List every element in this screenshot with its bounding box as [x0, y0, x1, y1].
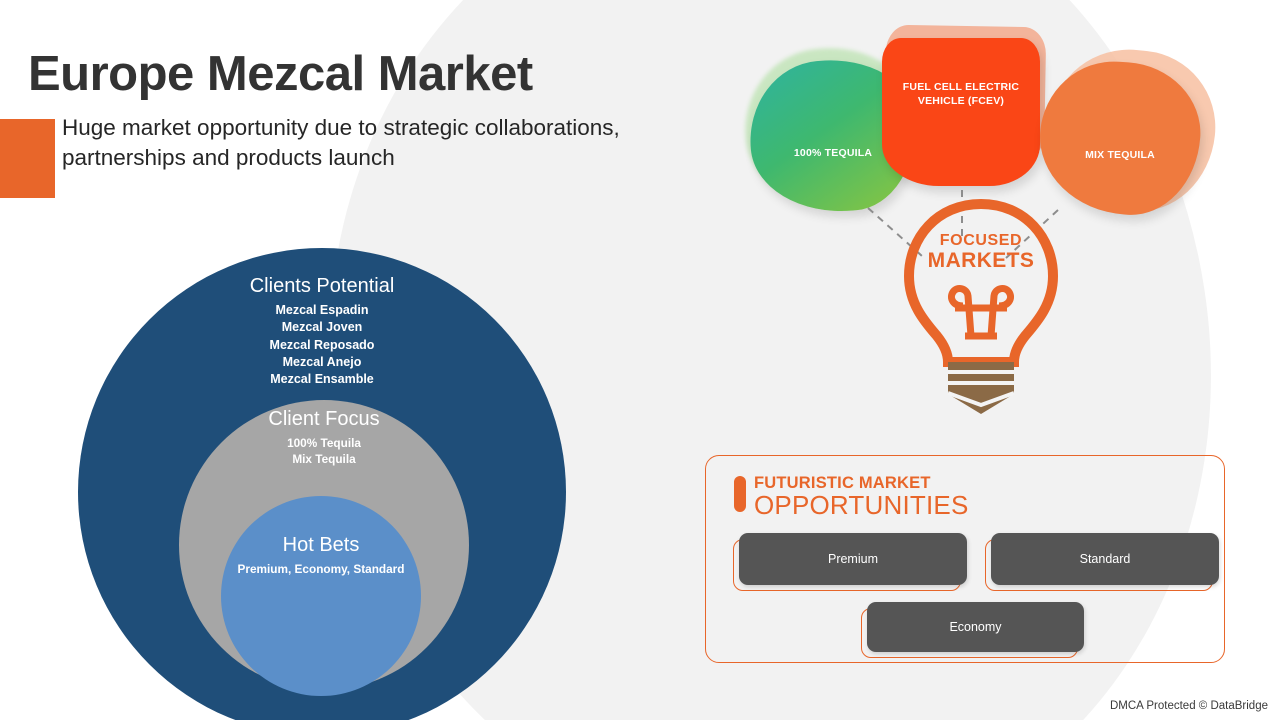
accent-square: [0, 119, 55, 198]
footer-copyright: DMCA Protected © DataBridge: [1110, 700, 1268, 712]
focused-markets-line2: MARKETS: [895, 249, 1067, 273]
circle-mid-items: 100% Tequila Mix Tequila: [179, 435, 469, 468]
option-standard-chip[interactable]: Standard: [991, 533, 1219, 585]
lightbulb-center-text: FOCUSED MARKETS: [895, 232, 1067, 273]
circle-mid-title: Client Focus: [179, 408, 469, 431]
circle-mid-text: Client Focus 100% Tequila Mix Tequila: [179, 408, 469, 468]
panel-heading: FUTURISTIC MARKET OPPORTUNITIES: [754, 475, 969, 519]
circle-inner-items: Premium, Economy, Standard: [221, 561, 421, 577]
panel-title-line2: OPPORTUNITIES: [754, 492, 969, 519]
circle-hot-bets[interactable]: Hot Bets Premium, Economy, Standard: [221, 496, 421, 696]
option-economy-chip[interactable]: Economy: [867, 602, 1084, 652]
circle-inner-title: Hot Bets: [221, 534, 421, 557]
focused-markets-line1: FOCUSED: [895, 232, 1067, 250]
node-mix-tequila-label: MIX TEQUILA: [1040, 148, 1200, 162]
circle-outer-title: Clients Potential: [78, 275, 566, 298]
circle-outer-items: Mezcal Espadin Mezcal Joven Mezcal Repos…: [78, 302, 566, 388]
lightbulb-graphic: FOCUSED MARKETS: [895, 196, 1067, 426]
circle-outer-text: Clients Potential Mezcal Espadin Mezcal …: [78, 275, 566, 388]
concentric-circles-diagram: Clients Potential Mezcal Espadin Mezcal …: [78, 248, 578, 720]
futuristic-market-opportunities-panel: FUTURISTIC MARKET OPPORTUNITIES Premium …: [705, 455, 1225, 663]
lightbulb-icon: [895, 196, 1067, 426]
option-premium-chip[interactable]: Premium: [739, 533, 967, 585]
page-title: Europe Mezcal Market: [28, 46, 533, 102]
node-fcev-label: FUEL CELL ELECTRIC VEHICLE (FCEV): [882, 80, 1040, 108]
node-100-tequila-label: 100% TEQUILA: [750, 146, 916, 160]
page-subtitle: Huge market opportunity due to strategic…: [62, 113, 622, 173]
circle-inner-text: Hot Bets Premium, Economy, Standard: [221, 534, 421, 577]
panel-accent-bar: [734, 476, 746, 512]
